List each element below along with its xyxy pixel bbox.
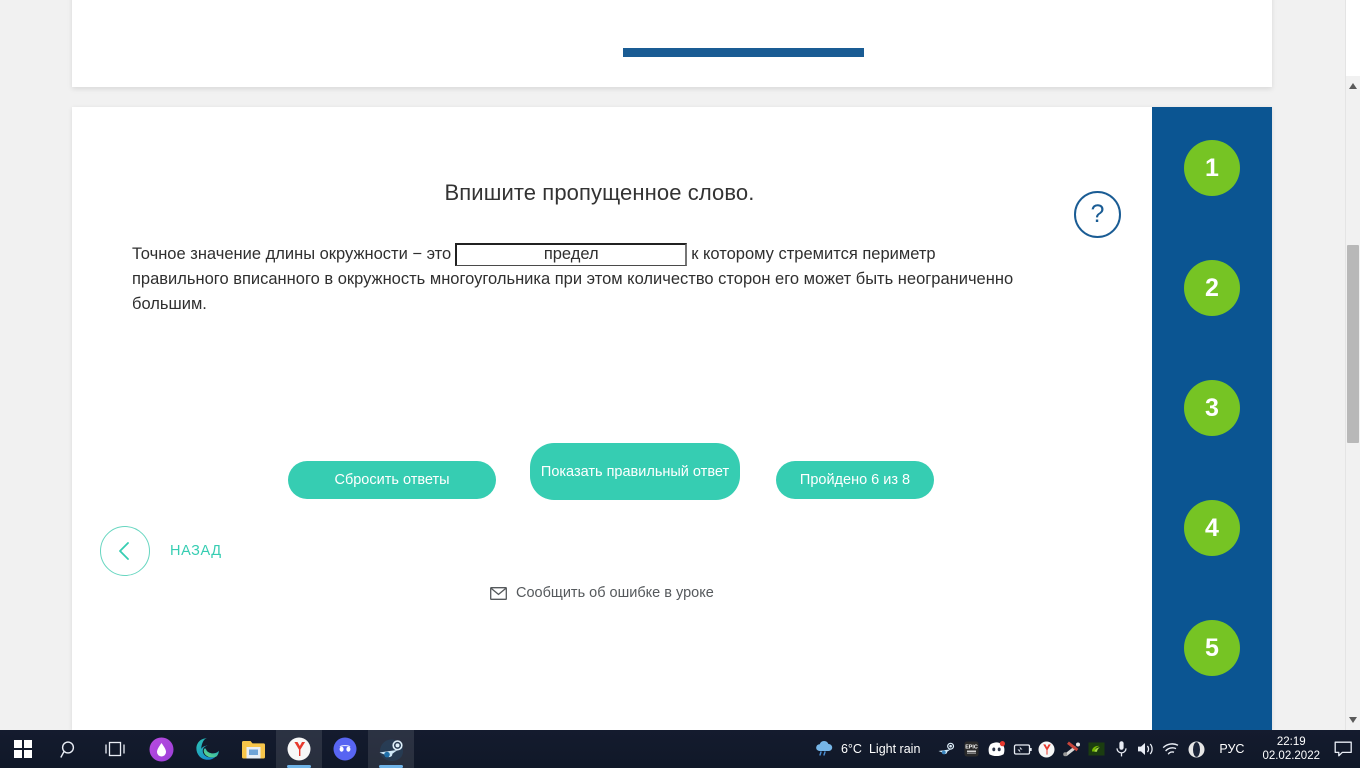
tools-tray-icon[interactable] <box>1059 730 1084 768</box>
lesson-card: Впишите пропущенное слово. ? Точное знач… <box>72 107 1272 730</box>
answer-input[interactable] <box>455 243 687 266</box>
nvidia-tray-icon[interactable] <box>1084 730 1109 768</box>
battery-icon[interactable] <box>1009 730 1034 768</box>
report-error-label: Сообщить об ошибке в уроке <box>516 585 714 601</box>
lesson-step-1[interactable]: 1 <box>1184 140 1240 196</box>
scroll-down-arrow-icon[interactable] <box>1346 712 1360 728</box>
help-icon[interactable]: ? <box>1074 191 1121 238</box>
discord-icon[interactable] <box>322 730 368 768</box>
yandex-browser-icon[interactable] <box>276 730 322 768</box>
discord-tray-icon[interactable] <box>984 730 1009 768</box>
back-button[interactable]: НАЗАД <box>100 525 222 577</box>
clock[interactable]: 22:19 02.02.2022 <box>1254 735 1328 763</box>
question-statement: Точное значение длины окружности − эток … <box>132 242 1032 317</box>
back-button-label: НАЗАД <box>170 543 222 559</box>
search-icon[interactable] <box>46 730 92 768</box>
task-view-icon[interactable] <box>92 730 138 768</box>
alice-icon[interactable] <box>138 730 184 768</box>
opera-tray-icon[interactable] <box>1184 730 1209 768</box>
statement-text-before: Точное значение длины окружности − это <box>132 245 451 263</box>
weather-condition: Light rain <box>869 742 920 756</box>
lesson-step-2[interactable]: 2 <box>1184 260 1240 316</box>
language-indicator[interactable]: РУС <box>1209 742 1254 756</box>
edge-icon[interactable] <box>184 730 230 768</box>
scroll-up-arrow-icon[interactable] <box>1346 78 1360 94</box>
page-title: Впишите пропущенное слово. <box>72 180 1127 206</box>
microphone-icon[interactable] <box>1109 730 1134 768</box>
scrollbar-thumb[interactable] <box>1347 245 1359 443</box>
rain-cloud-icon <box>814 740 834 759</box>
windows-taskbar: 6°C Light rain EPIC <box>0 730 1360 768</box>
reset-answers-button[interactable]: Сбросить ответы <box>288 461 496 499</box>
yandex-tray-icon[interactable] <box>1034 730 1059 768</box>
progress-button[interactable]: Пройдено 6 из 8 <box>776 461 934 499</box>
epic-games-tray-icon[interactable]: EPIC <box>959 730 984 768</box>
envelope-icon <box>490 587 507 600</box>
steam-icon[interactable] <box>368 730 414 768</box>
lesson-step-4[interactable]: 4 <box>1184 500 1240 556</box>
page-scrollbar[interactable] <box>1345 0 1360 730</box>
chevron-left-icon <box>100 526 150 576</box>
lesson-step-sidebar: 1 2 3 4 5 <box>1152 107 1272 730</box>
system-tray: 6°C Light rain EPIC <box>814 730 1360 768</box>
screen: Впишите пропущенное слово. ? Точное знач… <box>0 0 1360 768</box>
clock-date: 02.02.2022 <box>1262 749 1320 763</box>
clock-time: 22:19 <box>1262 735 1320 749</box>
weather-temperature: 6°C <box>841 742 862 756</box>
lesson-step-5[interactable]: 5 <box>1184 620 1240 676</box>
start-button[interactable] <box>0 730 46 768</box>
active-tab-indicator <box>623 48 864 57</box>
volume-icon[interactable] <box>1134 730 1159 768</box>
svg-text:EPIC: EPIC <box>966 745 979 751</box>
lesson-body: Впишите пропущенное слово. ? Точное знач… <box>72 107 1152 730</box>
report-error-link[interactable]: Сообщить об ошибке в уроке <box>490 585 714 601</box>
file-explorer-icon[interactable] <box>230 730 276 768</box>
wifi-icon[interactable] <box>1159 730 1184 768</box>
lesson-step-3[interactable]: 3 <box>1184 380 1240 436</box>
steam-tray-icon[interactable] <box>934 730 959 768</box>
weather-widget[interactable]: 6°C Light rain <box>814 740 920 759</box>
notification-center-icon[interactable] <box>1328 730 1358 768</box>
previous-lesson-card <box>72 0 1272 87</box>
taskbar-apps <box>0 730 414 768</box>
show-correct-answer-button[interactable]: Показать правильный ответ <box>530 443 740 500</box>
scrollbar-top-gap <box>1346 0 1360 76</box>
action-buttons: Сбросить ответы Показать правильный отве… <box>72 437 1152 507</box>
